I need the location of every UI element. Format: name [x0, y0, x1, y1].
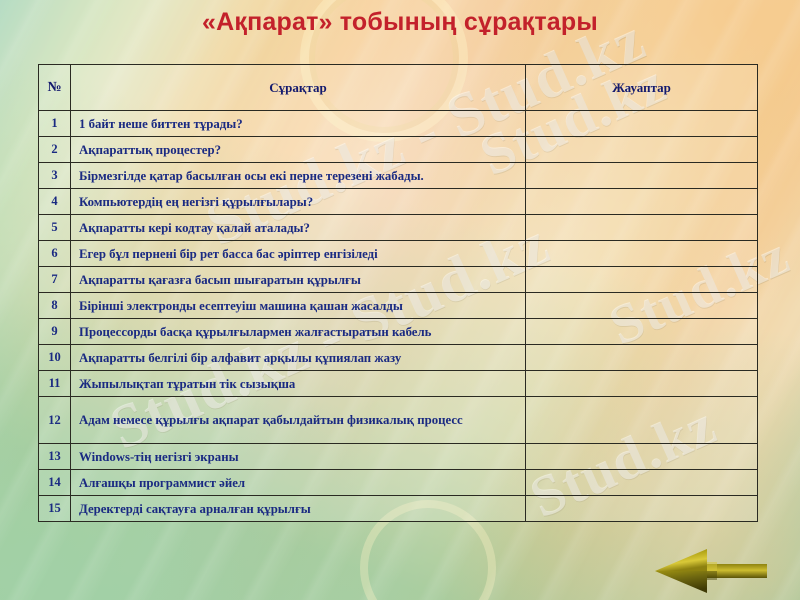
question-cell: Деректерді сақтауға арналған құрылғы: [71, 496, 526, 522]
question-cell: 1 байт неше биттен тұрады?: [71, 111, 526, 137]
arrow-left-icon[interactable]: [655, 548, 767, 594]
table-row: 15Деректерді сақтауға арналған құрылғы: [39, 496, 758, 522]
row-number-cell: 6: [39, 241, 71, 267]
row-number-cell: 8: [39, 293, 71, 319]
row-number-cell: 3: [39, 163, 71, 189]
answer-cell[interactable]: [526, 215, 758, 241]
table-row: 11Жыпылықтап тұратын тік сызықша: [39, 371, 758, 397]
question-cell: Жыпылықтап тұратын тік сызықша: [71, 371, 526, 397]
row-number-cell: 7: [39, 267, 71, 293]
table-row: 3Бірмезгілде қатар басылған осы екі перн…: [39, 163, 758, 189]
answer-cell[interactable]: [526, 293, 758, 319]
table-body: 11 байт неше биттен тұрады?2Ақпараттық п…: [39, 111, 758, 522]
table-row: 5Ақпаратты кері кодтау қалай аталады?: [39, 215, 758, 241]
table-row: 6Егер бұл пернені бір рет басса бас әріп…: [39, 241, 758, 267]
back-arrow-button[interactable]: [655, 548, 767, 594]
questions-table: № Сұрақтар Жауаптар 11 байт неше биттен …: [38, 64, 758, 522]
question-cell: Ақпараттық процестер?: [71, 137, 526, 163]
row-number-cell: 2: [39, 137, 71, 163]
row-number-cell: 15: [39, 496, 71, 522]
column-header-answer: Жауаптар: [526, 65, 758, 111]
row-number-cell: 13: [39, 444, 71, 470]
answer-cell[interactable]: [526, 345, 758, 371]
answer-cell[interactable]: [526, 397, 758, 444]
answer-cell[interactable]: [526, 267, 758, 293]
table-row: 9Процессорды басқа құрылғылармен жалғаст…: [39, 319, 758, 345]
answer-cell[interactable]: [526, 371, 758, 397]
question-cell: Компьютердің ең негізгі құрылғылары?: [71, 189, 526, 215]
table-row: 14Алғашқы программист әйел: [39, 470, 758, 496]
column-header-number: №: [39, 65, 71, 111]
question-cell: Windows-тің негізгі экраны: [71, 444, 526, 470]
question-cell: Ақпаратты белгілі бір алфавит арқылы құп…: [71, 345, 526, 371]
question-cell: Алғашқы программист әйел: [71, 470, 526, 496]
table-row: 12Адам немесе құрылғы ақпарат қабылдайты…: [39, 397, 758, 444]
answer-cell[interactable]: [526, 137, 758, 163]
question-cell: Ақпаратты кері кодтау қалай аталады?: [71, 215, 526, 241]
row-number-cell: 1: [39, 111, 71, 137]
question-cell: Егер бұл пернені бір рет басса бас әріпт…: [71, 241, 526, 267]
answer-cell[interactable]: [526, 496, 758, 522]
table-row: 2Ақпараттық процестер?: [39, 137, 758, 163]
row-number-cell: 11: [39, 371, 71, 397]
table-row: 11 байт неше биттен тұрады?: [39, 111, 758, 137]
answer-cell[interactable]: [526, 444, 758, 470]
table-row: 8Бірінші электронды есептеуіш машина қаш…: [39, 293, 758, 319]
table-header: № Сұрақтар Жауаптар: [39, 65, 758, 111]
question-cell: Ақпаратты қағазға басып шығаратын құрылғ…: [71, 267, 526, 293]
question-cell: Адам немесе құрылғы ақпарат қабылдайтын …: [71, 397, 526, 444]
row-number-cell: 4: [39, 189, 71, 215]
table-row: 4Компьютердің ең негізгі құрылғылары?: [39, 189, 758, 215]
page-title: «Ақпарат» тобының сұрақтары: [0, 6, 800, 38]
table-row: 13Windows-тің негізгі экраны: [39, 444, 758, 470]
slide-canvas: Stud.kz - Stud.kz Stud.kz Stud.kz - Stud…: [0, 0, 800, 600]
row-number-cell: 10: [39, 345, 71, 371]
column-header-question: Сұрақтар: [71, 65, 526, 111]
question-cell: Процессорды басқа құрылғылармен жалғасты…: [71, 319, 526, 345]
answer-cell[interactable]: [526, 111, 758, 137]
row-number-cell: 9: [39, 319, 71, 345]
answer-cell[interactable]: [526, 189, 758, 215]
answer-cell[interactable]: [526, 470, 758, 496]
question-cell: Бірмезгілде қатар басылған осы екі перне…: [71, 163, 526, 189]
row-number-cell: 14: [39, 470, 71, 496]
table-header-row: № Сұрақтар Жауаптар: [39, 65, 758, 111]
answer-cell[interactable]: [526, 319, 758, 345]
answer-cell[interactable]: [526, 241, 758, 267]
answer-cell[interactable]: [526, 163, 758, 189]
row-number-cell: 5: [39, 215, 71, 241]
row-number-cell: 12: [39, 397, 71, 444]
question-cell: Бірінші электронды есептеуіш машина қаша…: [71, 293, 526, 319]
table-row: 10Ақпаратты белгілі бір алфавит арқылы қ…: [39, 345, 758, 371]
table-row: 7Ақпаратты қағазға басып шығаратын құрыл…: [39, 267, 758, 293]
